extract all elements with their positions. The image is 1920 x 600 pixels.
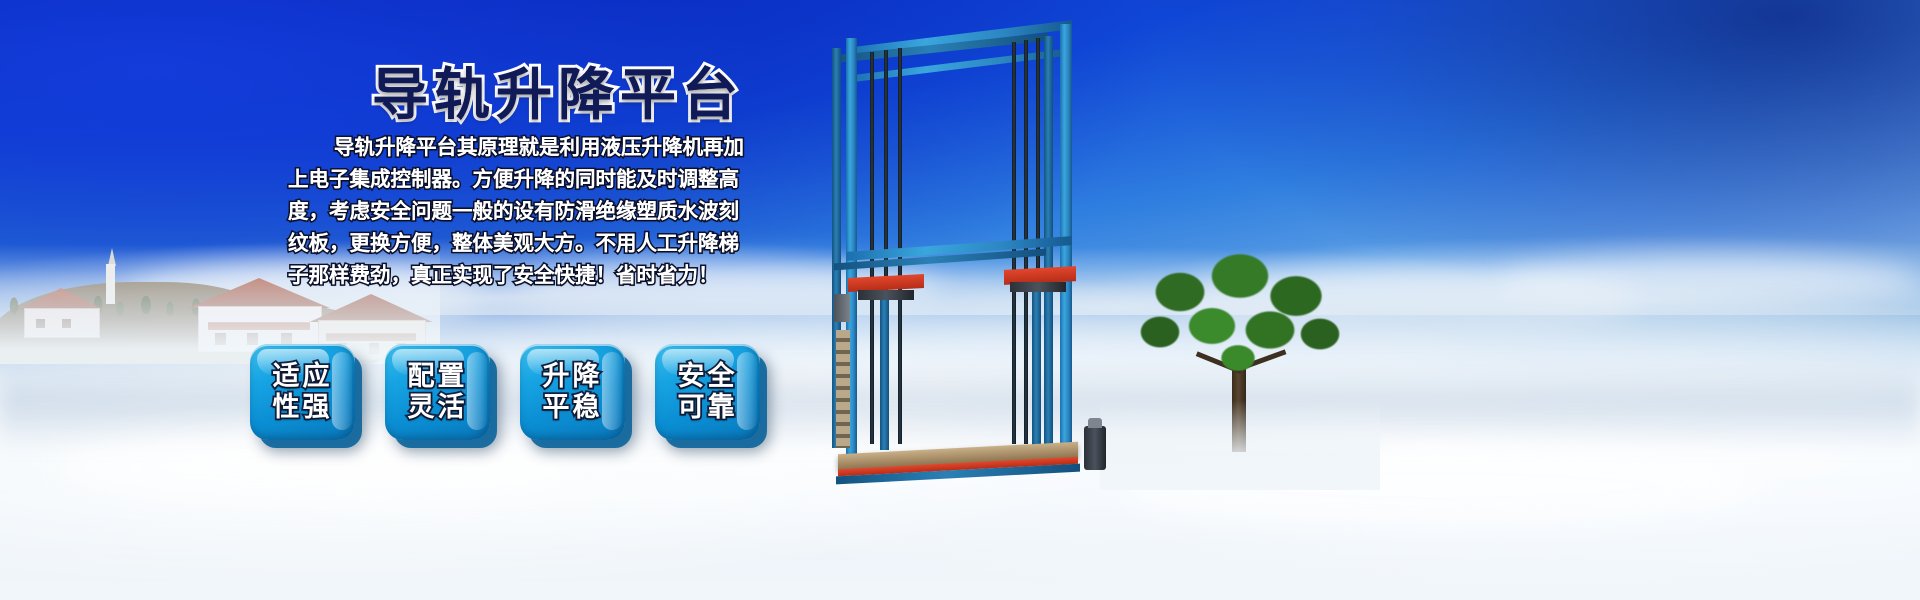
cloud-wisp — [1120, 442, 1760, 530]
machine-mid-beam — [846, 236, 1072, 261]
cloud-layer-upper — [0, 195, 1920, 315]
guide-rail-lift-platform — [828, 18, 1128, 488]
cloud-wisp — [520, 260, 940, 318]
machine-column-left-rear — [832, 48, 841, 448]
feature-badge-line2: 性强 — [273, 392, 333, 423]
feature-badge-peizhilinghuo[interactable]: 配置 灵活 — [385, 344, 490, 440]
machine-mid-beam-rear — [834, 249, 1046, 271]
page-title-outline: 导轨升降平台 — [372, 50, 744, 131]
sky-right-shade — [1037, 0, 1920, 348]
feature-badge-line2: 灵活 — [408, 392, 468, 423]
machine-column-right-front — [1060, 24, 1072, 454]
machine-piston-left — [880, 300, 889, 450]
alpine-village — [0, 224, 420, 364]
cloud-wisp — [60, 430, 580, 504]
green-tree — [1120, 240, 1360, 460]
sky-glow — [0, 0, 1920, 372]
feature-badge-line2: 可靠 — [678, 392, 738, 423]
chalet-house — [198, 278, 320, 352]
page-title: 导轨升降平台 — [372, 50, 744, 131]
feature-badge-shengjiangpingwen[interactable]: 升降 平稳 — [520, 344, 625, 440]
feature-badge-line1: 安全 — [678, 361, 738, 392]
machine-base-frame — [836, 464, 1080, 485]
cloud-wisp — [1500, 254, 1920, 310]
machine-guide-rail — [1012, 42, 1016, 444]
tree-trunk — [1232, 348, 1246, 452]
tree-branch — [1236, 349, 1287, 371]
cloud-wisp — [120, 266, 480, 332]
feature-badge-anquankekao[interactable]: 安全 可靠 — [655, 344, 760, 440]
machine-guide-rail — [884, 50, 888, 444]
machine-hydraulic-block — [1010, 282, 1066, 292]
machine-guide-rail — [1036, 38, 1040, 444]
feature-badge-line1: 配置 — [408, 361, 468, 392]
machine-hydraulic-block — [858, 290, 914, 300]
feature-badge-list: 适应 性强 配置 灵活 升降 平稳 安全 可靠 — [250, 344, 760, 440]
machine-top-cross — [848, 48, 1070, 82]
feature-badge-line1: 适应 — [273, 361, 333, 392]
tree-mist-fade — [1100, 400, 1380, 490]
machine-guide-rail — [1024, 40, 1028, 444]
machine-top-beam — [846, 20, 1072, 57]
machine-column-right-rear — [1044, 36, 1053, 448]
machine-power-cap — [1088, 418, 1102, 428]
machine-power-unit — [1084, 426, 1106, 470]
machine-guide-rail — [898, 48, 902, 444]
tree-branch — [1196, 351, 1242, 374]
machine-side-ladder — [836, 330, 850, 448]
machine-piston-right — [1032, 292, 1041, 450]
feature-badge-line1: 升降 — [543, 361, 603, 392]
machine-top-beam-rear — [834, 33, 1048, 63]
machine-platform-deck — [838, 442, 1078, 471]
machine-carriage-red-left — [848, 274, 924, 292]
machine-guide-rail — [870, 52, 874, 444]
description-text: 导轨升降平台其原理就是利用液压升降机再加上电子集成控制器。方便升降的同时能及时调… — [288, 132, 758, 292]
description-outline: 导轨升降平台其原理就是利用液压升降机再加上电子集成控制器。方便升降的同时能及时调… — [288, 132, 758, 292]
cloud-wisp — [1180, 268, 1640, 338]
promo-banner: 导轨升降平台 导轨升降平台 导轨升降平台其原理就是利用液压升降机再加上电子集成控… — [0, 0, 1920, 600]
sky-background — [0, 0, 1920, 600]
machine-control-box — [834, 294, 850, 322]
tree-canopy — [1120, 240, 1360, 390]
chalet-house — [24, 288, 98, 338]
feature-badge-line2: 平稳 — [543, 392, 603, 423]
machine-column-left-front — [846, 38, 857, 456]
feature-badge-shiyingxingqiang[interactable]: 适应 性强 — [250, 344, 355, 440]
machine-carriage-red-right — [1004, 266, 1076, 285]
machine-deck-edge — [838, 457, 1078, 477]
tree-line — [0, 278, 230, 322]
mountain-ridge — [0, 282, 290, 364]
church-steeple — [104, 248, 120, 304]
